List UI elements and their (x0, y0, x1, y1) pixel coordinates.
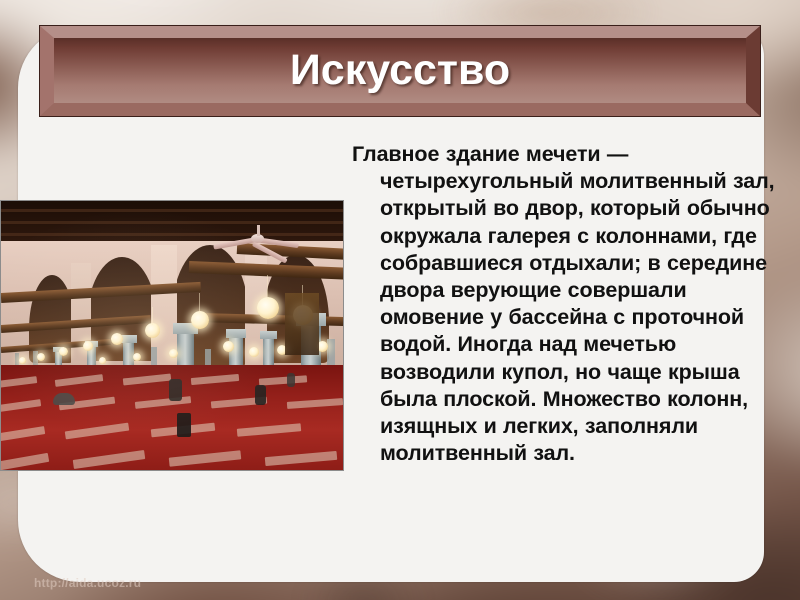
mosque-interior-photo (0, 200, 344, 471)
slide-title-bar-inner: Искусство (54, 38, 746, 103)
slide-title-bar: Искусство (40, 26, 760, 116)
slide-body-text: Главное здание мечети — четырехугольный … (352, 141, 788, 467)
site-watermark: http://aida.ucoz.ru (34, 576, 141, 590)
photo-haze (1, 201, 343, 470)
page-title: Искусство (290, 49, 510, 92)
presentation-slide: Искусство Главное здание мечети — четыре… (0, 0, 800, 600)
